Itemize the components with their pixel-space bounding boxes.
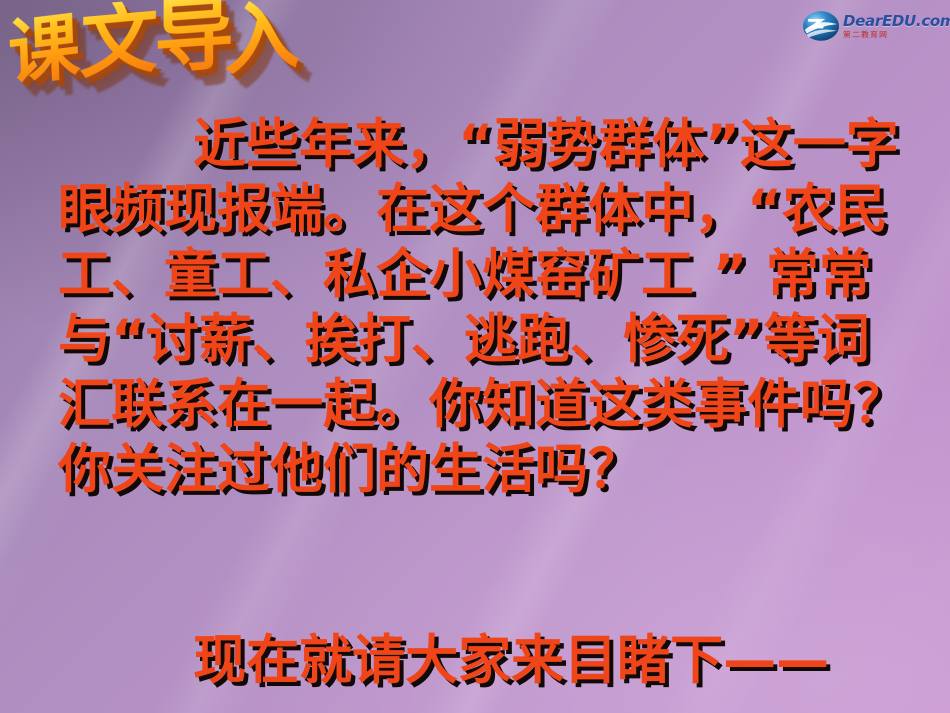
title-char-3: 导 — [154, 0, 234, 79]
body-paragraph: 近些年来，“弱势群体”这一字眼频现报端。在这个群体中，“农民工、童工、私企小煤窑… — [58, 112, 906, 502]
slide-title-artwork: 课 文 导 入 — [6, 0, 306, 108]
globe-icon — [802, 7, 840, 45]
slide-body-text: 近些年来，“弱势群体”这一字眼频现报端。在这个群体中，“农民工、童工、私企小煤窑… — [58, 112, 906, 502]
logo-brand-name: DearEDU.com — [843, 14, 950, 29]
body-paragraph-text: 近些年来，“弱势群体”这一字眼频现报端。在这个群体中，“农民工、童工、私企小煤窑… — [58, 114, 906, 500]
presentation-slide: 课 文 导 入 DearEDU.com 第二教育网 近些 — [0, 0, 950, 713]
title-char-1: 课 — [7, 9, 81, 90]
brand-logo: DearEDU.com 第二教育网 — [802, 6, 942, 46]
slide-closing-line: 现在就请大家来目睹下—— — [58, 630, 918, 692]
logo-brand-name-cn: 第二教育网 — [843, 31, 950, 38]
closing-line-text: 现在就请大家来目睹下—— — [193, 630, 829, 691]
title-char-2: 文 — [79, 0, 158, 84]
title-char-4: 入 — [224, 0, 301, 80]
logo-text-block: DearEDU.com 第二教育网 — [843, 14, 950, 39]
title-characters: 课 文 导 入 — [6, 0, 306, 108]
